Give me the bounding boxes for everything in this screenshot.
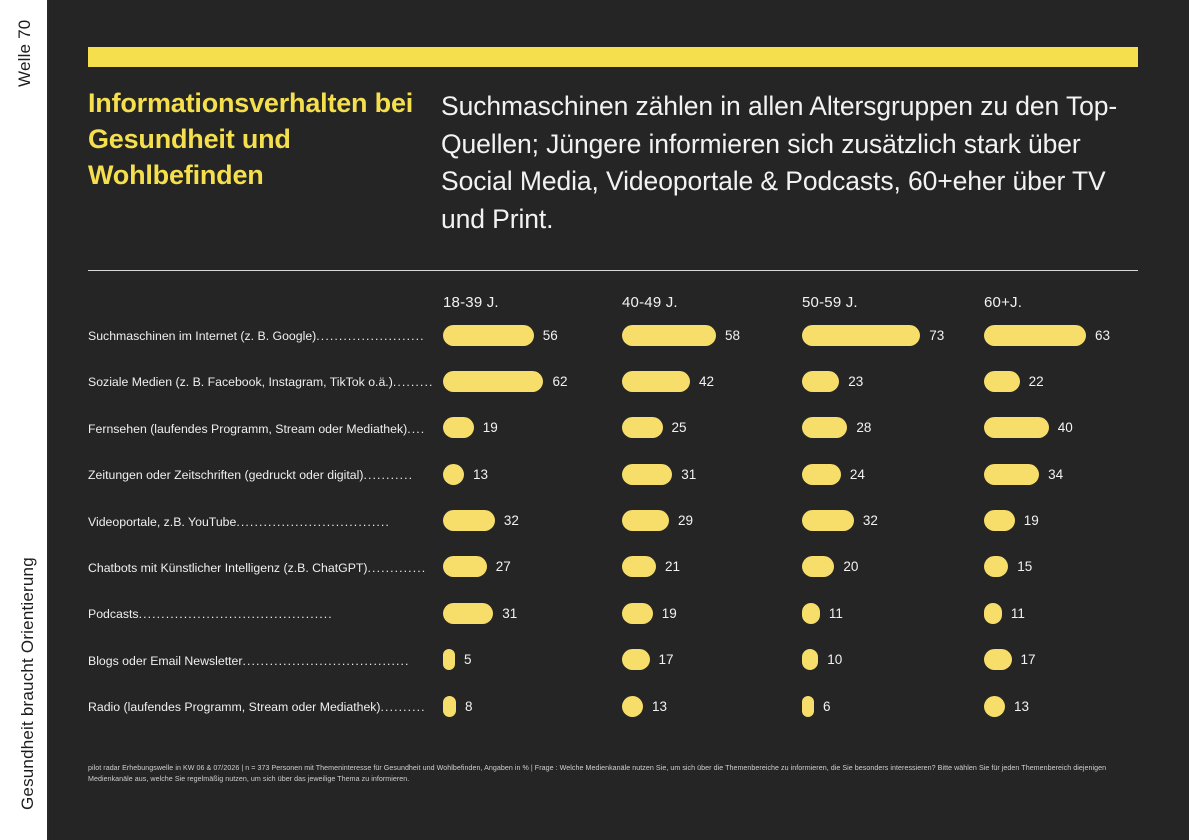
chart-bar-cell: 10 (802, 647, 842, 673)
row-label-text: Radio (laufendes Programm, Stream oder M… (88, 700, 381, 714)
row-label: Soziale Medien (z. B. Facebook, Instagra… (88, 375, 443, 389)
chart-bar (984, 371, 1020, 392)
content-canvas: Informationsverhalten bei Gesundheit und… (49, 0, 1189, 840)
column-header-3: 50-59 J. (802, 294, 858, 311)
chart-bar-cell: 21 (622, 554, 680, 580)
row-label: Fernsehen (laufendes Programm, Stream od… (88, 422, 443, 436)
chart-bar-value: 13 (1014, 699, 1029, 714)
row-label-leader: ........................ (316, 329, 424, 343)
chart-row: Videoportale, z.B. YouTube..............… (49, 508, 1189, 554)
chart-bar-value: 73 (929, 328, 944, 343)
chart-bar-cell: 13 (622, 693, 667, 719)
chart-bar-cell: 73 (802, 322, 944, 348)
chart-bar-cell: 62 (443, 368, 567, 394)
chart-bar-cell: 23 (802, 368, 863, 394)
column-header-1: 18-39 J. (443, 294, 499, 311)
chart-bar (622, 510, 669, 531)
chart-row: Radio (laufendes Programm, Stream oder M… (49, 693, 1189, 739)
chart-bar-value: 58 (725, 328, 740, 343)
chart-bar-value: 17 (659, 652, 674, 667)
row-label-leader: .......... (381, 700, 426, 714)
chart-bar-value: 5 (464, 652, 472, 667)
chart-bar-cell: 19 (443, 415, 498, 441)
row-label-text: Zeitungen oder Zeitschriften (gedruckt o… (88, 468, 363, 482)
chart-bar (622, 649, 650, 670)
chart-bar (443, 556, 487, 577)
chart-bar-cell: 13 (984, 693, 1029, 719)
chart-row: Chatbots mit Künstlicher Intelligenz (z.… (49, 554, 1189, 600)
chart-bar-cell: 19 (622, 600, 677, 626)
chart-bar-value: 17 (1021, 652, 1036, 667)
chart-bar-value: 62 (552, 374, 567, 389)
chart-bar-cell: 56 (443, 322, 558, 348)
chart-bar-cell: 6 (802, 693, 831, 719)
chart-bar (443, 464, 464, 485)
chart-bar (984, 417, 1049, 438)
chart-bar-cell: 24 (802, 461, 865, 487)
chart-bar (802, 464, 841, 485)
chart-bar-value: 63 (1095, 328, 1110, 343)
row-label-leader: ..................................... (242, 654, 409, 668)
row-label: Radio (laufendes Programm, Stream oder M… (88, 700, 443, 714)
chart-row: Soziale Medien (z. B. Facebook, Instagra… (49, 368, 1189, 414)
chart-bar-value: 13 (473, 467, 488, 482)
row-label: Zeitungen oder Zeitschriften (gedruckt o… (88, 468, 443, 482)
chart-bar-value: 10 (827, 652, 842, 667)
chart-row: Blogs oder Email Newsletter.............… (49, 647, 1189, 693)
chart-bar-value: 20 (843, 559, 858, 574)
chart-bar-value: 13 (652, 699, 667, 714)
column-header-2: 40-49 J. (622, 294, 678, 311)
row-label-text: Fernsehen (laufendes Programm, Stream od… (88, 422, 407, 436)
row-label-leader: .................................. (236, 515, 390, 529)
chart-bar-value: 19 (483, 420, 498, 435)
header-divider (88, 270, 1138, 271)
chart-bar-cell: 11 (984, 600, 1025, 626)
chart-bar-value: 56 (543, 328, 558, 343)
row-label-leader: ............. (368, 561, 427, 575)
chart-bar-cell: 25 (622, 415, 687, 441)
chart-bar-cell: 63 (984, 322, 1110, 348)
chart-bar-cell: 17 (984, 647, 1036, 673)
chart-bar-cell: 11 (802, 600, 843, 626)
chart-bar (443, 371, 543, 392)
page-title: Informationsverhalten bei Gesundheit und… (88, 86, 418, 194)
chart-bar-cell: 32 (443, 508, 519, 534)
chart-bar (802, 510, 854, 531)
chart-bar (802, 696, 814, 717)
chart-bar (984, 464, 1039, 485)
chart-bar (984, 696, 1005, 717)
chart-bar-value: 11 (1011, 606, 1025, 621)
chart-row: Podcasts................................… (49, 600, 1189, 646)
row-label: Videoportale, z.B. YouTube..............… (88, 515, 443, 529)
row-label-text: Blogs oder Email Newsletter (88, 654, 242, 668)
chart-bar-cell: 17 (622, 647, 674, 673)
slide-root: Welle 70 Gesundheit braucht Orientierung… (0, 0, 1189, 840)
row-label-leader: .... (407, 422, 425, 436)
chart-bar-value: 19 (1024, 513, 1039, 528)
chart-bar-value: 15 (1017, 559, 1032, 574)
chart-bar-value: 32 (863, 513, 878, 528)
chart-bar-cell: 31 (622, 461, 696, 487)
chart-bar (443, 696, 456, 717)
chart-bar (984, 556, 1008, 577)
chart-bar-cell: 31 (443, 600, 517, 626)
accent-bar (88, 47, 1138, 67)
row-label-leader: ........... (363, 468, 413, 482)
footnote: pilot radar Erhebungswelle in KW 06 & 07… (88, 763, 1108, 786)
chart-bar-value: 31 (681, 467, 696, 482)
chart-bar-cell: 28 (802, 415, 871, 441)
chart-bar (984, 649, 1012, 670)
chart-bar (984, 603, 1002, 624)
row-label-leader: ........................................… (139, 607, 333, 621)
chart-bar (802, 649, 818, 670)
chart-bar-cell: 29 (622, 508, 693, 534)
chart-bar (984, 325, 1086, 346)
chart-bar-value: 40 (1058, 420, 1073, 435)
chart-bar (622, 603, 653, 624)
chart-bar (622, 371, 690, 392)
chart-bar-value: 27 (496, 559, 511, 574)
chart-bar (443, 417, 474, 438)
chart-bar-cell: 27 (443, 554, 511, 580)
chart-bar-value: 11 (829, 606, 843, 621)
chart-bar-value: 34 (1048, 467, 1063, 482)
row-label: Chatbots mit Künstlicher Intelligenz (z.… (88, 561, 443, 575)
chart-bar-value: 6 (823, 699, 831, 714)
chart-bar (802, 556, 834, 577)
rail-campaign-label: Gesundheit braucht Orientierung (18, 470, 38, 810)
chart-bar-value: 24 (850, 467, 865, 482)
chart-bar-cell: 20 (802, 554, 858, 580)
row-label: Blogs oder Email Newsletter.............… (88, 654, 443, 668)
row-label-text: Suchmaschinen im Internet (z. B. Google) (88, 329, 316, 343)
left-rail: Welle 70 Gesundheit braucht Orientierung (0, 0, 48, 840)
chart-bar (443, 325, 534, 346)
chart-bar-cell: 19 (984, 508, 1039, 534)
chart-bar-cell: 15 (984, 554, 1032, 580)
chart-bar (622, 696, 643, 717)
row-label-text: Videoportale, z.B. YouTube (88, 515, 236, 529)
chart-row: Fernsehen (laufendes Programm, Stream od… (49, 415, 1189, 461)
rail-wave-label: Welle 70 (15, 0, 35, 87)
chart-bar (984, 510, 1015, 531)
row-label-text: Podcasts (88, 607, 139, 621)
chart-bar (622, 464, 672, 485)
chart-bar (443, 510, 495, 531)
column-header-4: 60+J. (984, 294, 1022, 311)
chart-row: Suchmaschinen im Internet (z. B. Google)… (49, 322, 1189, 368)
chart-bar-value: 23 (848, 374, 863, 389)
chart-bar-value: 31 (502, 606, 517, 621)
chart-bar-value: 29 (678, 513, 693, 528)
chart-bar (443, 649, 455, 670)
row-label-text: Chatbots mit Künstlicher Intelligenz (z.… (88, 561, 368, 575)
row-label: Podcasts................................… (88, 607, 443, 621)
chart-bar-value: 8 (465, 699, 473, 714)
chart-bar-cell: 8 (443, 693, 472, 719)
chart-bar-value: 19 (662, 606, 677, 621)
chart-bar-cell: 58 (622, 322, 740, 348)
chart-bar-value: 21 (665, 559, 680, 574)
row-label-leader: ......... (393, 375, 434, 389)
row-label-text: Soziale Medien (z. B. Facebook, Instagra… (88, 375, 393, 389)
chart-bar (622, 556, 656, 577)
chart-row: Zeitungen oder Zeitschriften (gedruckt o… (49, 461, 1189, 507)
chart-bar (802, 417, 847, 438)
chart-bar-value: 25 (672, 420, 687, 435)
chart-bar-cell: 34 (984, 461, 1063, 487)
chart-rows: Suchmaschinen im Internet (z. B. Google)… (49, 322, 1189, 740)
column-header-row: 18-39 J.40-49 J.50-59 J.60+J. (49, 294, 1189, 314)
chart-bar-value: 32 (504, 513, 519, 528)
chart-bar (802, 371, 839, 392)
chart-bar-value: 22 (1029, 374, 1044, 389)
chart-bar-cell: 22 (984, 368, 1044, 394)
chart-bar-value: 28 (856, 420, 871, 435)
chart-bar-value: 42 (699, 374, 714, 389)
chart-bar-cell: 5 (443, 647, 472, 673)
chart-bar-cell: 40 (984, 415, 1073, 441)
page-subtitle: Suchmaschinen zählen in allen Altersgrup… (441, 88, 1151, 239)
chart-bar (622, 417, 663, 438)
chart-bar (622, 325, 716, 346)
row-label: Suchmaschinen im Internet (z. B. Google)… (88, 329, 443, 343)
chart-bar (802, 603, 820, 624)
chart-bar-cell: 32 (802, 508, 878, 534)
chart-bar (802, 325, 920, 346)
chart-bar-cell: 42 (622, 368, 714, 394)
chart-bar (443, 603, 493, 624)
chart-bar-cell: 13 (443, 461, 488, 487)
